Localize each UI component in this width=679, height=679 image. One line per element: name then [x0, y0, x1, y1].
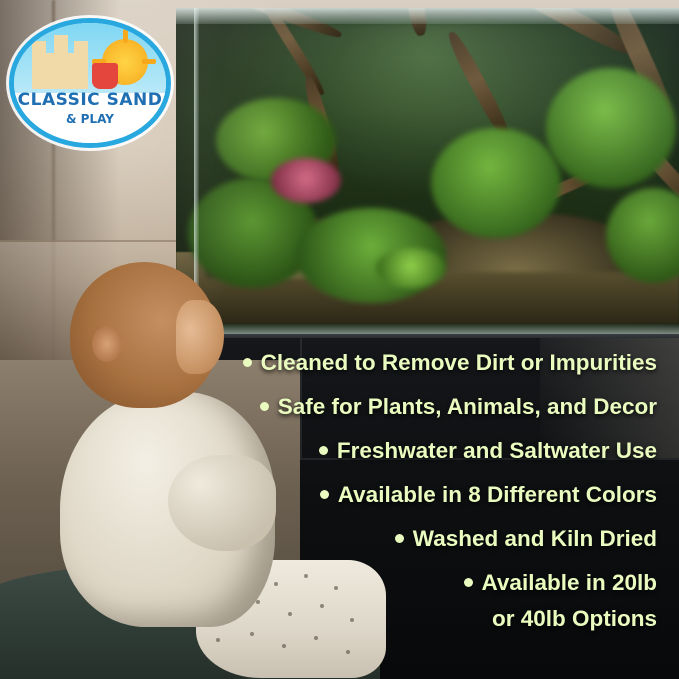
bullet-dot-icon — [464, 578, 473, 587]
brand-name-line1: CLASSIC SAND — [14, 90, 166, 110]
feature-item-6-continuation: or 40lb Options — [137, 608, 657, 631]
feature-label: Safe for Plants, Animals, and Decor — [278, 394, 657, 419]
bullet-dot-icon — [319, 446, 328, 455]
aquatic-plant — [431, 128, 561, 238]
bullet-dot-icon — [320, 490, 329, 499]
aquatic-plant — [546, 68, 676, 188]
brand-logo: CLASSIC SAND & PLAY — [9, 18, 171, 148]
aquatic-plant — [376, 248, 446, 288]
castle-tower-icon — [74, 41, 88, 57]
product-lifestyle-image: CLASSIC SAND & PLAY Cleaned to Remove Di… — [0, 0, 679, 679]
sun-ray-icon — [142, 59, 156, 64]
feature-label: Available in 20lb — [482, 570, 658, 595]
feature-item-2: Safe for Plants, Animals, and Decor — [137, 396, 657, 419]
feature-item-6: Available in 20lb — [137, 572, 657, 595]
feature-item-5: Washed and Kiln Dried — [137, 528, 657, 551]
red-plant — [271, 158, 341, 203]
feature-list: Cleaned to Remove Dirt or Impurities Saf… — [137, 352, 657, 652]
brand-name-line2: & PLAY — [14, 112, 166, 126]
feature-item-3: Freshwater and Saltwater Use — [137, 440, 657, 463]
feature-item-4: Available in 8 Different Colors — [137, 484, 657, 507]
bucket-icon — [92, 63, 118, 89]
tank-rim-top — [176, 8, 679, 24]
feature-label: Freshwater and Saltwater Use — [337, 438, 657, 463]
castle-tower-icon — [54, 35, 68, 57]
aquarium-tank — [176, 8, 679, 338]
sun-ray-icon — [123, 29, 128, 43]
feature-label-continuation: or 40lb Options — [492, 606, 657, 631]
bullet-dot-icon — [243, 358, 252, 367]
bullet-dot-icon — [260, 402, 269, 411]
castle-tower-icon — [32, 41, 46, 57]
feature-label: Washed and Kiln Dried — [413, 526, 657, 551]
feature-item-1: Cleaned to Remove Dirt or Impurities — [137, 352, 657, 375]
sand-castle-icon — [32, 53, 88, 89]
feature-label: Available in 8 Different Colors — [338, 482, 657, 507]
baby-ear — [92, 326, 122, 362]
feature-label: Cleaned to Remove Dirt or Impurities — [261, 350, 657, 375]
bullet-dot-icon — [395, 534, 404, 543]
